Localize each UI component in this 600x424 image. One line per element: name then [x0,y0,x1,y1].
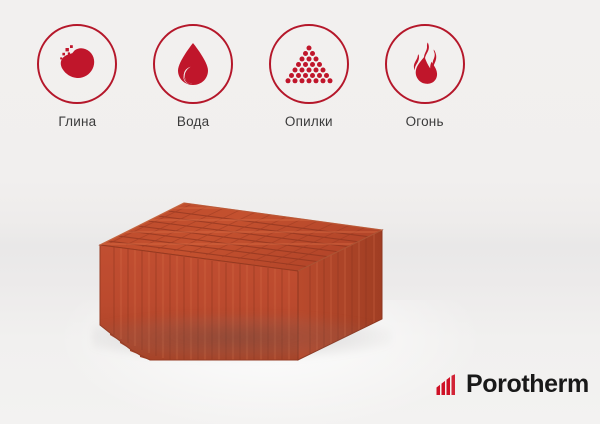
ingredient-label: Огонь [406,115,444,129]
ingredient-sawdust[interactable]: Опилки [264,24,355,129]
ingredient-fire[interactable]: Огонь [379,24,470,129]
ingredient-clay[interactable]: Глина [32,24,123,129]
product-image [86,185,396,370]
sawdust-pile-icon [284,44,334,84]
product-shadow [92,313,392,361]
ingredient-label: Вода [177,115,209,129]
brand-logo[interactable]: Porotherm [435,372,589,397]
water-drop-icon [175,41,211,87]
flame-icon [405,40,445,88]
ingredient-label: Глина [58,115,96,129]
ingredient-water[interactable]: Вода [148,24,239,129]
ingredient-circle [385,24,465,104]
porotherm-bars-logo-icon [435,374,459,396]
ingredient-circle [153,24,233,104]
ingredients-row: Глина Вода [0,24,470,129]
brand-name: Porotherm [466,372,589,397]
slide-canvas: Глина Вода [0,0,600,424]
ingredient-circle [269,24,349,104]
ingredient-label: Опилки [285,115,333,129]
clay-lump-icon [54,42,100,86]
ingredient-circle [37,24,117,104]
